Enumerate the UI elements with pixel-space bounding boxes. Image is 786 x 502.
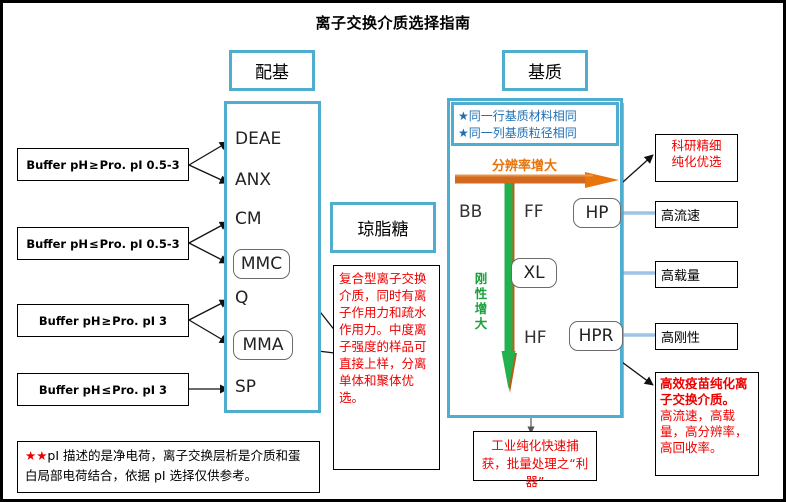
ligand-mma-label: MMA [243,335,284,355]
result-box-vaccine: 高效疫苗纯化离子交换介质。 高流速，高载量，高分辨率，高回收率。 [655,372,759,476]
matrix-cell-hp-label: HP [585,203,608,223]
ligand-cm: CM [235,209,262,229]
matrix-note-2: ★同一列基质粒径相同 [458,125,616,142]
result-research-line1: 科研精细 [660,138,733,154]
ligand-header-label: 配基 [255,58,289,83]
footnote-text: pI 描述的是净电荷，离子交换层析是介质和蛋白局部电荷结合，依据 pI 选择仅供… [25,448,301,483]
ligand-mmc: MMC [233,249,290,279]
matrix-cell-hf-label: HF [524,328,547,348]
matrix-cell-bb: BB [459,202,482,222]
matrix-cell-hpr-label: HPR [579,326,614,346]
buffer-1-pre: Buffer pH [26,158,88,172]
matrix-cell-xl-label: XL [523,263,544,283]
result-research-line2: 纯化优选 [660,154,733,170]
ligand-sp-label: SP [235,377,256,397]
buffer-box-4: Buffer pH ≤ Pro. pI 3 [17,373,189,406]
buffer-2-pre: Buffer pH [26,237,88,251]
vaccine-note-bold: 高效疫苗纯化离子交换介质。 [660,376,754,408]
capture-note: 工业纯化快速捕获，批量处理之“利器” [473,431,597,481]
buffer-box-1: Buffer pH ≥ Pro. pI 0.5-3 [17,148,189,181]
buffer-4-symbol: ≤ [101,383,113,397]
ligand-mmc-label: MMC [241,254,282,274]
agarose-header-box: 琼脂糖 [330,202,436,253]
result-box-rigidity: 高刚性 [655,323,738,350]
matrix-cell-ff: FF [524,202,544,222]
agarose-header-label: 琼脂糖 [358,215,409,240]
matrix-cell-ff-label: FF [524,202,544,222]
buffer-3-symbol: ≥ [101,314,113,328]
footnote-stars: ★★ [25,448,47,463]
footnote-box: ★★pI 描述的是净电荷，离子交换层析是介质和蛋白局部电荷结合，依据 pI 选择… [17,441,320,493]
mixed-mode-note: 复合型离子交换介质，同时有离子作用力和疏水作用力。中度离子强度的样品可直接上样，… [333,265,440,470]
ligand-cm-label: CM [235,209,262,229]
ligand-q-label: Q [235,288,248,308]
matrix-cell-bb-label: BB [459,202,482,222]
matrix-cell-xl: XL [511,258,557,288]
buffer-1-symbol: ≥ [88,158,100,172]
buffer-4-pre: Buffer pH [39,383,101,397]
ligand-mma: MMA [233,330,293,360]
ligand-deae-label: DEAE [235,129,281,149]
ligand-q: Q [235,288,248,308]
result-box-flowrate: 高流速 [655,201,738,228]
matrix-cell-hpr: HPR [569,321,623,351]
matrix-notes-box: ★同一行基质材料相同 ★同一列基质粒径相同 [451,102,619,146]
buffer-1-post: Pro. pI 0.5-3 [100,158,180,172]
matrix-cell-hp: HP [573,198,621,228]
resolution-arrow-icon [453,171,621,193]
result-box-capacity: 高载量 [655,261,738,288]
buffer-2-symbol: ≤ [88,237,100,251]
diagram-canvas: 离子交换介质选择指南 配基 基质 琼脂糖 DEAE ANX CM MMC Q M… [0,0,786,502]
result-capacity-label: 高载量 [661,265,700,284]
rigidity-arrow-icon [500,181,522,396]
buffer-4-post: Pro. pI 3 [112,383,167,397]
ligand-deae: DEAE [235,129,281,149]
vaccine-note-body: 高流速，高载量，高分辨率，高回收率。 [660,408,754,456]
ligand-header-box: 配基 [229,50,315,91]
buffer-box-3: Buffer pH ≥ Pro. pI 3 [17,304,189,337]
result-box-research: 科研精细 纯化优选 [655,134,738,182]
ligand-sp: SP [235,377,256,397]
matrix-note-1: ★同一行基质材料相同 [458,108,616,125]
matrix-header-label: 基质 [528,58,562,83]
result-rigidity-label: 高刚性 [661,327,700,346]
ligand-anx-label: ANX [235,170,271,190]
page-title: 离子交换介质选择指南 [3,12,783,33]
result-flowrate-label: 高流速 [661,205,700,224]
matrix-header-box: 基质 [502,50,588,91]
buffer-box-2: Buffer pH ≤ Pro. pI 0.5-3 [17,227,189,260]
ligand-anx: ANX [235,170,271,190]
buffer-3-post: Pro. pI 3 [112,314,167,328]
rigidity-label: 刚性增大 [474,271,488,331]
matrix-cell-hf: HF [524,328,547,348]
buffer-3-pre: Buffer pH [39,314,101,328]
buffer-2-post: Pro. pI 0.5-3 [100,237,180,251]
